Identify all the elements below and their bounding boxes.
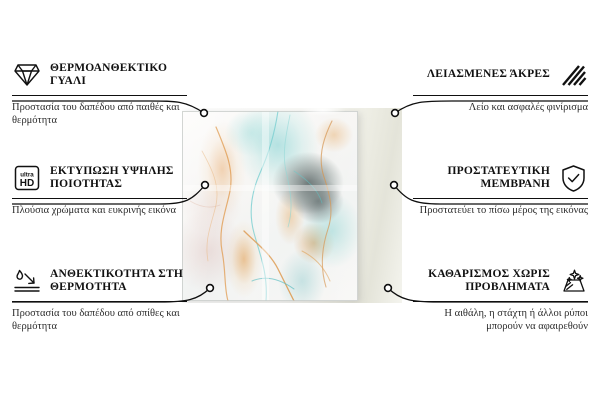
feature-title: ΠΡΟΣΤΑΤΕΥΤΙΚΗ ΜΕΜΒΡΑΝΗ xyxy=(413,165,550,192)
feature-description: Προστασία του δαπέδου από σπίθες και θερ… xyxy=(12,307,187,333)
feature-header: ultra HD ΕΚΤΥΠΩΣΗ ΥΨΗΛΗΣ ΠΟΙΟΤΗΤΑΣ xyxy=(12,163,187,193)
feature-easy-cleaning: ΚΑΘΑΡΙΣΜΟΣ ΧΩΡΙΣ ΠΡΟΒΛΗΜΑΤΑ Η αιθάλη, η … xyxy=(413,266,588,333)
feature-divider xyxy=(413,95,588,96)
polished-edges-icon xyxy=(558,60,588,90)
feature-description: Λείο και ασφαλές φινίρισμα xyxy=(413,101,588,114)
ink-vein-lines xyxy=(182,111,358,301)
feature-high-quality-print: ultra HD ΕΚΤΥΠΩΣΗ ΥΨΗΛΗΣ ΠΟΙΟΤΗΤΑΣ Πλούσ… xyxy=(12,163,187,217)
feature-description: Η αιθάλη, η στάχτη ή άλλοι ρύποι μπορούν… xyxy=(413,307,588,333)
feature-divider xyxy=(413,301,588,302)
feature-header: ΑΝΘΕΚΤΙΚΟΤΗΤΑ ΣΤΗ ΘΕΡΜΟΤΗΤΑ xyxy=(12,266,187,296)
feature-description: Προστατεύει το πίσω μέρος της εικόνας xyxy=(413,204,588,217)
glass-panel xyxy=(182,111,358,301)
feature-divider xyxy=(413,198,588,199)
product-image xyxy=(182,108,402,303)
ultra-hd-badge-icon: ultra HD xyxy=(12,163,42,193)
feature-title: ΚΑΘΑΡΙΣΜΟΣ ΧΩΡΙΣ ΠΡΟΒΛΗΜΑΤΑ xyxy=(413,268,550,295)
feature-title: ΕΚΤΥΠΩΣΗ ΥΨΗΛΗΣ ΠΟΙΟΤΗΤΑΣ xyxy=(50,165,187,192)
feature-header: ΚΑΘΑΡΙΣΜΟΣ ΧΩΡΙΣ ΠΡΟΒΛΗΜΑΤΑ xyxy=(413,266,588,296)
feature-polished-edges: ΛΕΙΑΣΜΕΝΕΣ ΆΚΡΕΣ Λείο και ασφαλές φινίρι… xyxy=(413,60,588,114)
product-feature-infographic: ΘΕΡΜΟΑΝΘΕΚΤΙΚΟ ΓΥΑΛΙ Προστασία του δαπέδ… xyxy=(0,0,600,400)
diamond-icon xyxy=(12,60,42,90)
feature-divider xyxy=(12,198,187,199)
feature-divider xyxy=(12,95,187,96)
feature-protective-membrane: ΠΡΟΣΤΑΤΕΥΤΙΚΗ ΜΕΜΒΡΑΝΗ Προστατεύει το πί… xyxy=(413,163,588,217)
feature-header: ΘΕΡΜΟΑΝΘΕΚΤΙΚΟ ΓΥΑΛΙ xyxy=(12,60,187,90)
feature-divider xyxy=(12,301,187,302)
feature-header: ΛΕΙΑΣΜΕΝΕΣ ΆΚΡΕΣ xyxy=(413,60,588,90)
feature-description: Προστασία του δαπέδου από παιθές και θερ… xyxy=(12,101,187,127)
feature-heat-durability: ΑΝΘΕΚΤΙΚΟΤΗΤΑ ΣΤΗ ΘΕΡΜΟΤΗΤΑ Προστασία το… xyxy=(12,266,187,333)
feature-title: ΛΕΙΑΣΜΕΝΕΣ ΆΚΡΕΣ xyxy=(427,68,550,82)
feature-header: ΠΡΟΣΤΑΤΕΥΤΙΚΗ ΜΕΜΒΡΑΝΗ xyxy=(413,163,588,193)
feature-description: Πλούσια χρώματα και ευκρινής εικόνα xyxy=(12,204,187,217)
feature-heat-resistant-glass: ΘΕΡΜΟΑΝΘΕΚΤΙΚΟ ΓΥΑΛΙ Προστασία του δαπέδ… xyxy=(12,60,187,127)
badge-main-label: HD xyxy=(20,178,34,189)
easy-clean-icon xyxy=(558,266,588,296)
shield-check-icon xyxy=(558,163,588,193)
heat-resistance-icon xyxy=(12,266,42,296)
feature-title: ΑΝΘΕΚΤΙΚΟΤΗΤΑ ΣΤΗ ΘΕΡΜΟΤΗΤΑ xyxy=(50,268,187,295)
feature-title: ΘΕΡΜΟΑΝΘΕΚΤΙΚΟ ΓΥΑΛΙ xyxy=(50,62,187,89)
